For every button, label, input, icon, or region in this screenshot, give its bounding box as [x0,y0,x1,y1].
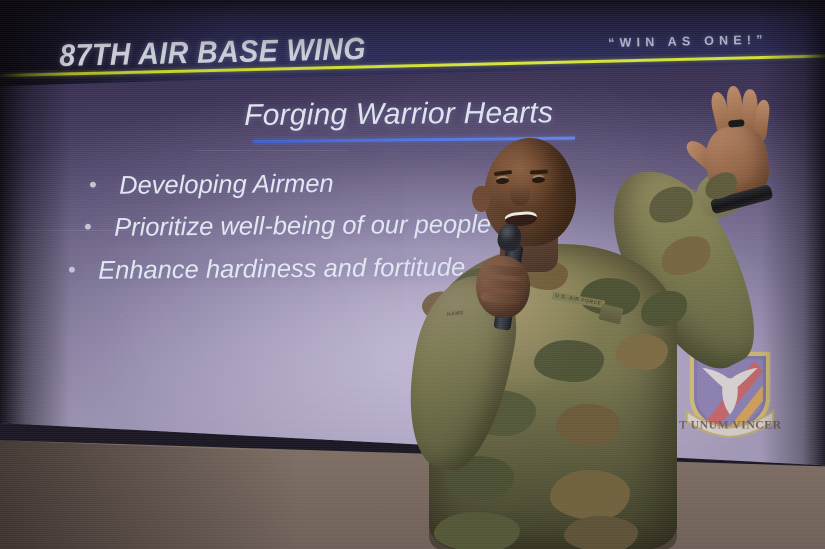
bullet-marker-icon: • [84,214,114,240]
bullet-text: Developing Airmen [119,170,334,200]
camo-blob [616,334,668,370]
camo-blob [550,470,630,520]
bullet-item: •Developing Airmen [89,170,334,201]
camo-blob [556,404,620,446]
camo-blob [434,512,520,549]
speaker-figure: U.S. AIR FORCE NAME [404,78,825,549]
camo-blob [636,285,693,333]
photo-stage: 87TH AIR BASE WING “WIN AS ONE!” Forging… [0,0,825,549]
bullet-marker-icon: • [89,172,119,198]
bullet-marker-icon: • [68,257,98,283]
nose [510,184,530,206]
camo-blob [643,180,699,230]
camo-blob [534,340,604,382]
finger [480,292,521,305]
ear [472,186,490,212]
finger [482,278,523,291]
camo-blob [564,516,638,549]
camo-blob [700,167,741,205]
camo-blob [655,229,717,284]
finger [483,264,524,277]
